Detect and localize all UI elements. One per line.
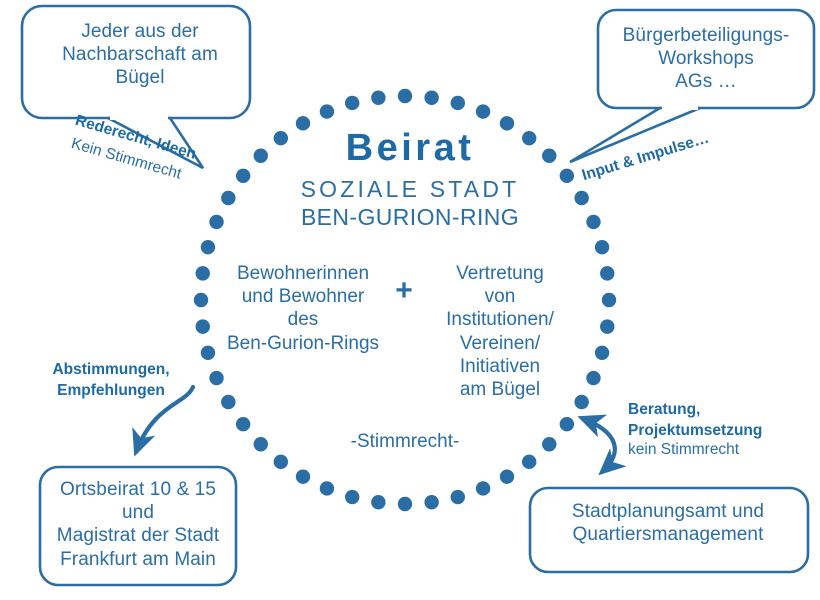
ring-dot bbox=[560, 417, 574, 431]
box-top-left-line-1: Jeder aus der bbox=[36, 20, 244, 43]
box-bottom-left-line-2: und bbox=[42, 501, 234, 524]
box-top-right-line-3: AGs … bbox=[608, 70, 804, 93]
center-left-line-2: und Bewohner bbox=[213, 285, 393, 308]
center-left-line-3: des bbox=[213, 308, 393, 331]
center-left-line-4: Ben-Gurion-Rings bbox=[213, 332, 393, 355]
ring-dot bbox=[602, 293, 616, 307]
ring-dot bbox=[201, 240, 215, 254]
box-bottom-right-line-1: Stadtplanungsamt und bbox=[536, 500, 800, 523]
ring-dot bbox=[451, 490, 465, 504]
ring-dot bbox=[522, 455, 536, 469]
ring-dot bbox=[424, 91, 438, 105]
center-right-line-3: Institutionen/ bbox=[425, 308, 575, 331]
ring-dot bbox=[209, 371, 223, 385]
ring-dot bbox=[371, 91, 385, 105]
box-top-left-line-3: Bügel bbox=[36, 66, 244, 89]
label-abstimmungen-line-1: Abstimmungen, bbox=[36, 360, 186, 381]
center-column-right: Vertretung von Institutionen/ Vereinen/ … bbox=[425, 262, 575, 401]
ring-dot bbox=[595, 346, 609, 360]
center-right-line-6: am Bügel bbox=[425, 378, 575, 401]
ring-dot bbox=[345, 490, 359, 504]
box-top-left-line-2: Nachbarschaft am bbox=[36, 43, 244, 66]
box-bottom-left-text: Ortsbeirat 10 & 15 und Magistrat der Sta… bbox=[42, 478, 234, 571]
center-footer-stimmrecht: -Stimmrecht- bbox=[300, 430, 510, 453]
ring-dot bbox=[320, 481, 334, 495]
box-bottom-left-line-3: Magistrat der Stadt bbox=[42, 524, 234, 547]
label-abstimmungen-line-2: Empfehlungen bbox=[36, 381, 186, 402]
ring-dot bbox=[371, 495, 385, 509]
plus-icon: + bbox=[386, 276, 422, 306]
box-bottom-right-text: Stadtplanungsamt und Quartiersmanagement bbox=[536, 500, 800, 546]
ring-dot bbox=[451, 96, 465, 110]
ring-dot bbox=[274, 455, 288, 469]
ring-dot bbox=[600, 266, 614, 280]
center-right-line-1: Vertretung bbox=[425, 262, 575, 285]
label-beratung-line-2: Projektumsetzung bbox=[628, 421, 788, 442]
ring-dot bbox=[476, 481, 490, 495]
ring-dot bbox=[221, 395, 235, 409]
center-right-line-5: Initiativen bbox=[425, 355, 575, 378]
center-column-left: Bewohnerinnen und Bewohner des Ben-Gurio… bbox=[213, 262, 393, 355]
label-beratung-line-1: Beratung, bbox=[628, 400, 788, 421]
ring-dot bbox=[586, 371, 600, 385]
ring-dot bbox=[236, 417, 250, 431]
ring-dot bbox=[296, 469, 310, 483]
box-top-right-line-1: Bürgerbeteiligungs- bbox=[608, 24, 804, 47]
ring-dot bbox=[424, 495, 438, 509]
ring-dot bbox=[196, 266, 210, 280]
box-bottom-left-line-4: Frankfurt am Main bbox=[42, 548, 234, 571]
center-right-line-2: von bbox=[425, 285, 575, 308]
ring-dot bbox=[194, 293, 208, 307]
ring-dot bbox=[345, 96, 359, 110]
ring-dot bbox=[600, 319, 614, 333]
arrow-beratung bbox=[582, 418, 615, 472]
box-top-right-text: Bürgerbeteiligungs- Workshops AGs … bbox=[608, 24, 804, 94]
box-top-right-line-2: Workshops bbox=[608, 47, 804, 70]
box-bottom-right-line-2: Quartiersmanagement bbox=[536, 523, 800, 546]
center-left-line-1: Bewohnerinnen bbox=[213, 262, 393, 285]
ring-dot bbox=[500, 469, 514, 483]
ring-dot bbox=[320, 104, 334, 118]
ring-dot bbox=[254, 437, 268, 451]
ring-dot bbox=[398, 497, 412, 511]
ring-dot bbox=[196, 319, 210, 333]
center-right-line-4: Vereinen/ bbox=[425, 332, 575, 355]
diagram-canvas: Jeder aus der Nachbarschaft am Bügel Bür… bbox=[0, 0, 820, 600]
ring-dot bbox=[476, 104, 490, 118]
page-subtitle-1: SOZIALE STADT bbox=[0, 175, 820, 203]
label-abstimmungen-empfehlungen: Abstimmungen, Empfehlungen bbox=[36, 360, 186, 402]
ring-dot bbox=[574, 395, 588, 409]
label-kein-stimmrecht-right: kein Stimmrecht bbox=[628, 440, 788, 461]
box-top-left-text: Jeder aus der Nachbarschaft am Bügel bbox=[36, 20, 244, 90]
label-beratung-projektumsetzung: Beratung, Projektumsetzung bbox=[628, 400, 788, 442]
ring-dot bbox=[542, 437, 556, 451]
box-bottom-left-line-1: Ortsbeirat 10 & 15 bbox=[42, 478, 234, 501]
ring-dot bbox=[398, 89, 412, 103]
ring-dot bbox=[595, 240, 609, 254]
page-subtitle-2: BEN-GURION-RING bbox=[0, 203, 820, 231]
